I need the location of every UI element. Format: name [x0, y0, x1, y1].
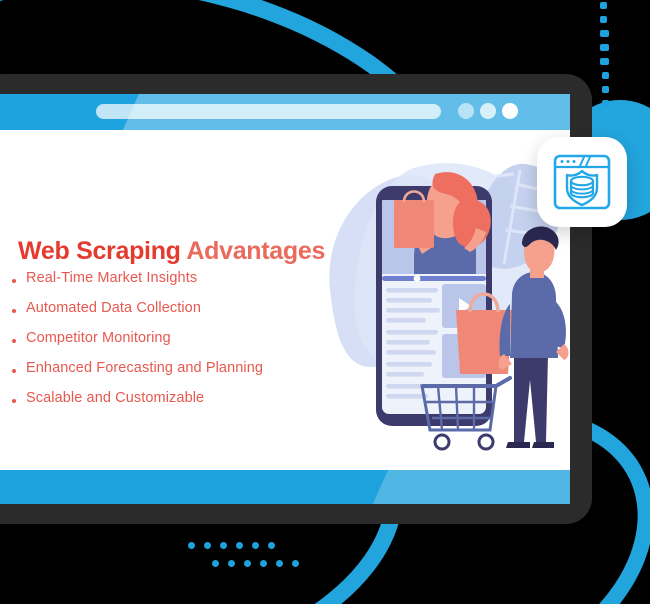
- page-title-strong: Web Scraping: [18, 237, 181, 265]
- slide-content: Web Scraping Advantages Real-Time Market…: [0, 130, 570, 504]
- list-item: Enhanced Forecasting and Planning: [12, 360, 263, 390]
- monitor-screen: Web Scraping Advantages Real-Time Market…: [0, 94, 570, 504]
- list-item: Scalable and Customizable: [12, 390, 263, 420]
- dot-pattern-top-right-b: [600, 2, 607, 65]
- close-dot-icon[interactable]: [502, 103, 518, 119]
- bullet-dot-icon: [12, 309, 16, 313]
- page-title: Web Scraping Advantages: [18, 239, 325, 264]
- monitor-frame: Web Scraping Advantages Real-Time Market…: [0, 74, 592, 524]
- dot-pattern-bottom-a: [188, 542, 275, 549]
- maximize-dot-icon[interactable]: [480, 103, 496, 119]
- advantages-list: Real-Time Market Insights Automated Data…: [12, 270, 263, 420]
- list-item: Automated Data Collection: [12, 300, 263, 330]
- bullet-dot-icon: [12, 339, 16, 343]
- list-item: Real-Time Market Insights: [12, 270, 263, 300]
- browser-toolbar: [0, 94, 570, 130]
- page-title-soft: Advantages: [186, 237, 325, 265]
- bullet-dot-icon: [12, 369, 16, 373]
- bullet-dot-icon: [12, 279, 16, 283]
- ecommerce-shopping-illustration: [318, 140, 570, 470]
- list-item-label: Real-Time Market Insights: [26, 270, 197, 286]
- slide-canvas: Web Scraping Advantages Real-Time Market…: [0, 0, 650, 604]
- list-item-label: Automated Data Collection: [26, 300, 201, 316]
- address-bar-input[interactable]: [96, 104, 441, 119]
- list-item-label: Scalable and Customizable: [26, 390, 204, 406]
- floating-icon-card[interactable]: [537, 137, 627, 227]
- footer-sheen: [367, 470, 570, 504]
- list-item-label: Enhanced Forecasting and Planning: [26, 360, 263, 376]
- list-item: Competitor Monitoring: [12, 330, 263, 360]
- bullet-dot-icon: [12, 399, 16, 403]
- screen-footer-band: [0, 470, 570, 504]
- dot-pattern-bottom-b: [212, 560, 299, 567]
- list-item-label: Competitor Monitoring: [26, 330, 171, 346]
- browser-shield-database-icon: [551, 151, 613, 213]
- minimize-dot-icon[interactable]: [458, 103, 474, 119]
